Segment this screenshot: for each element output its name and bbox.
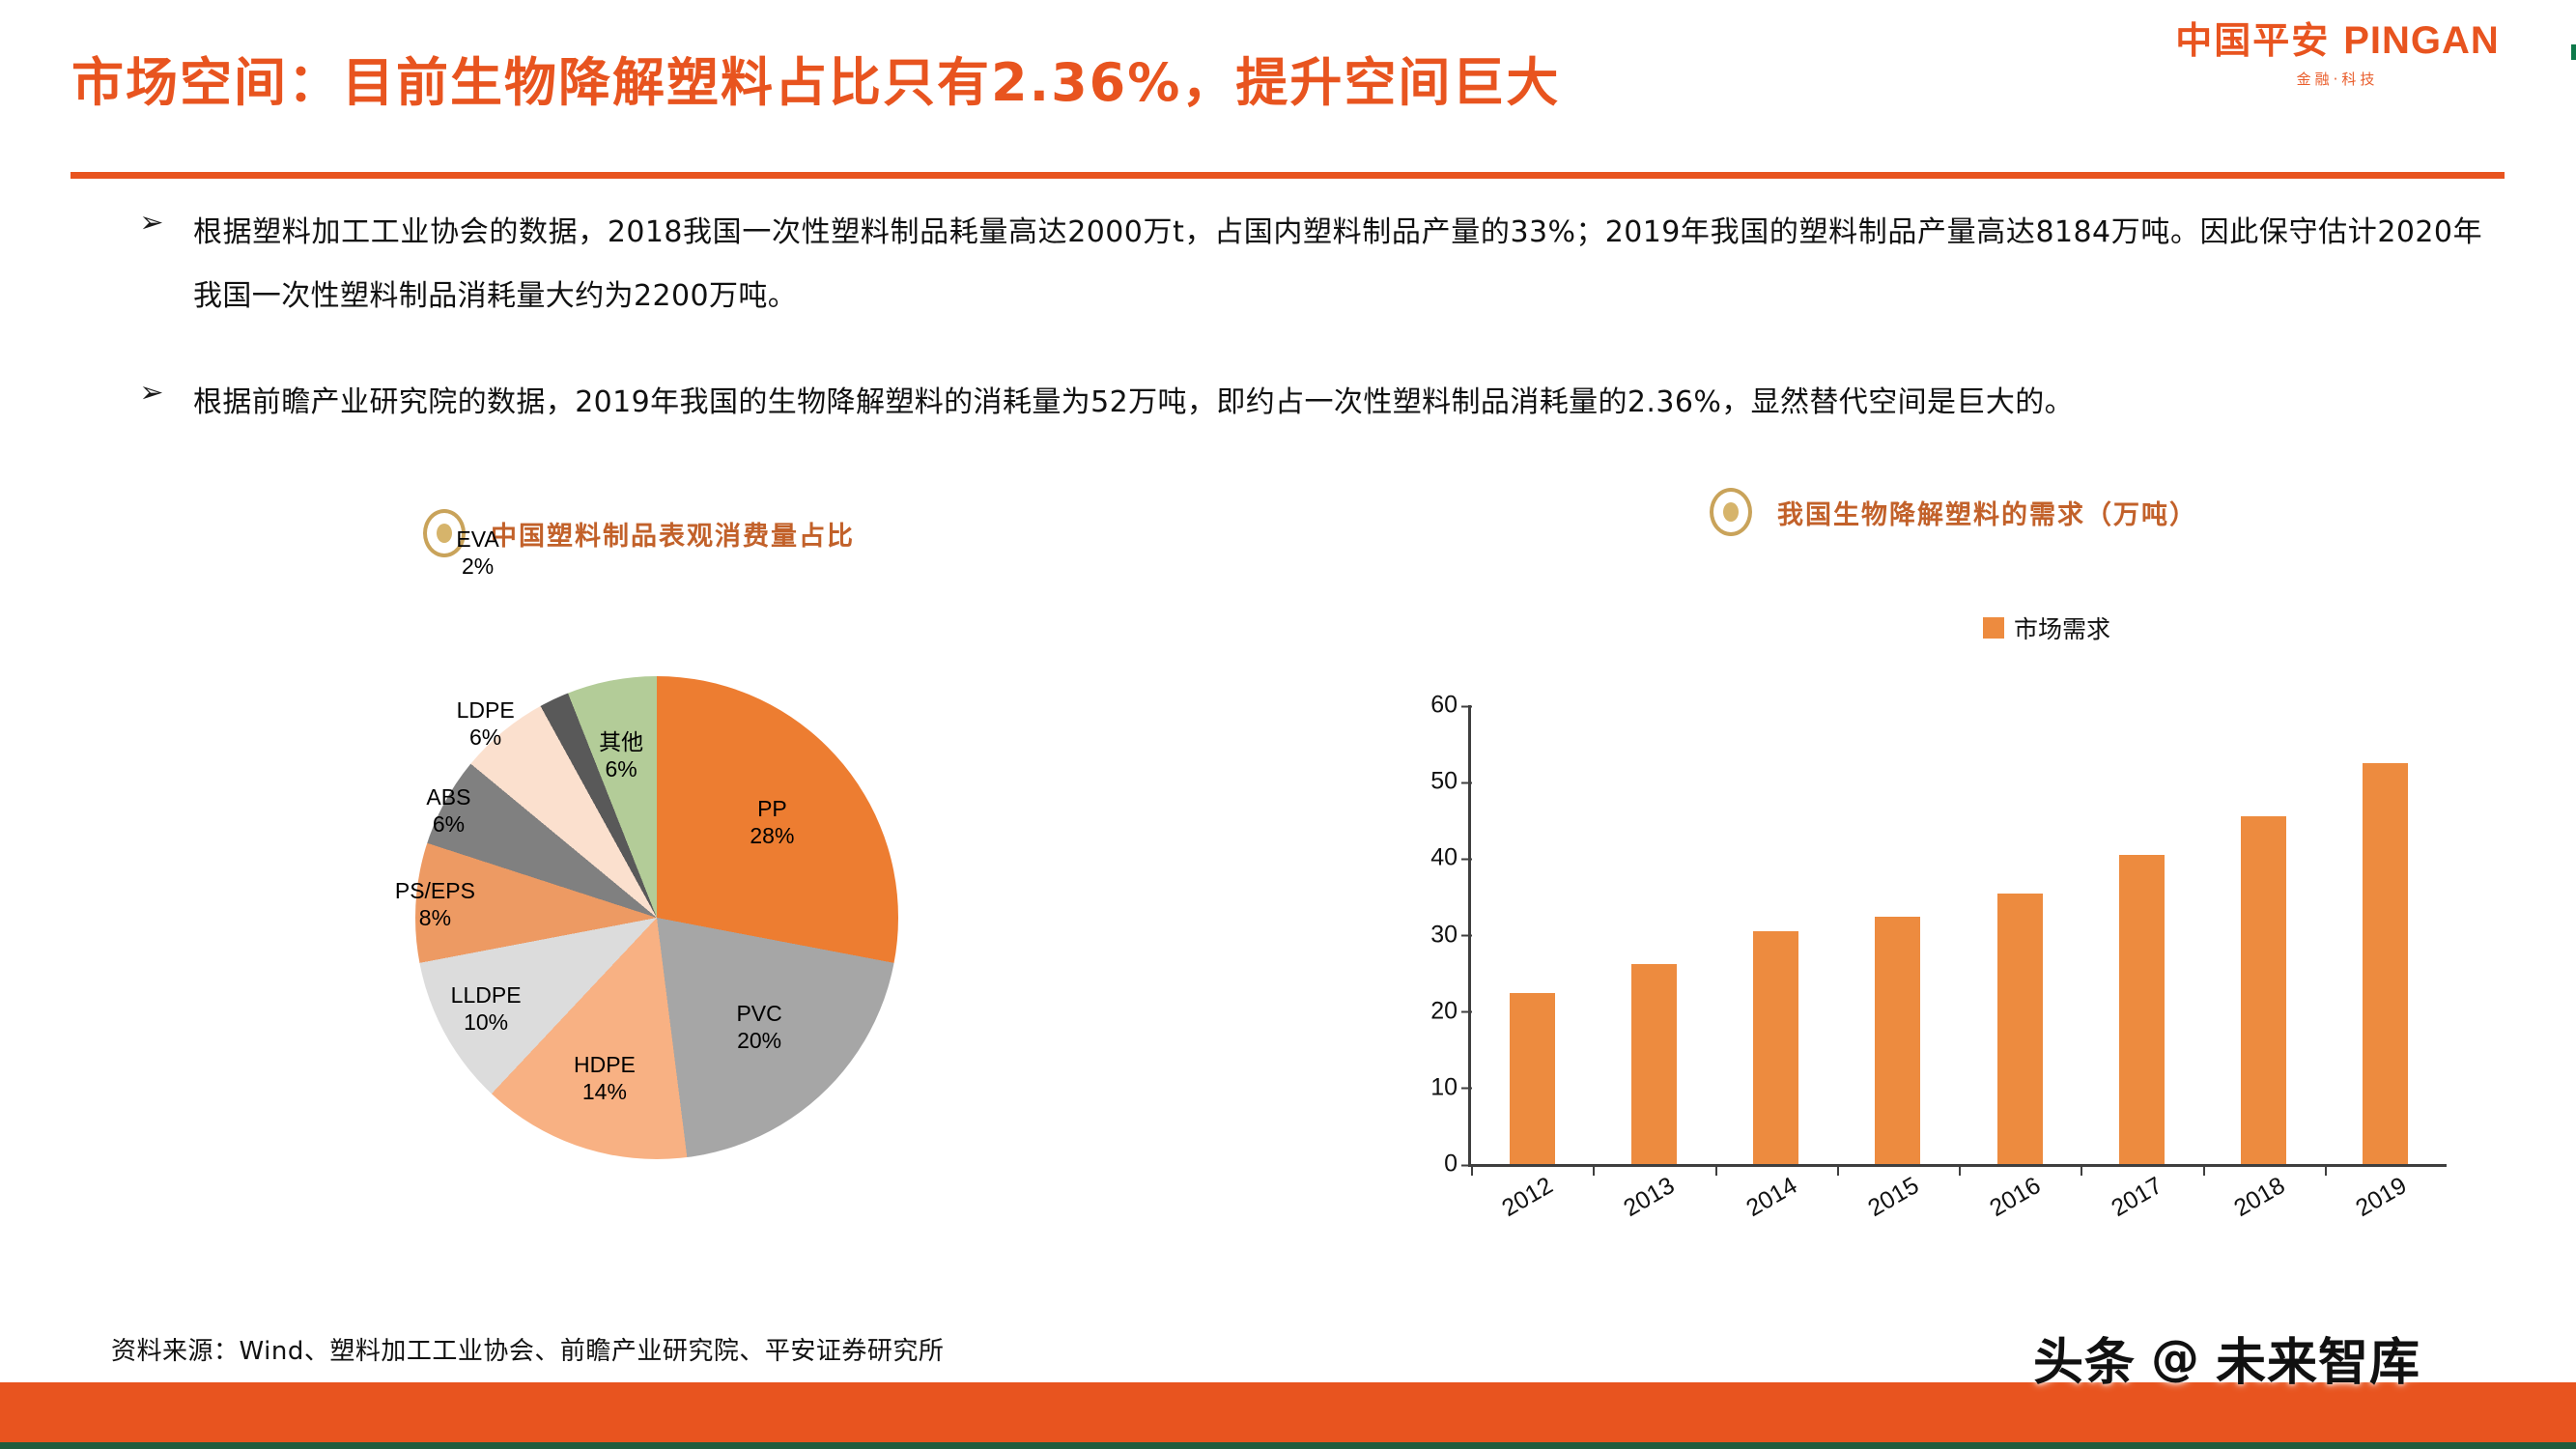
- bar-chart-heading-label: 我国生物降解塑料的需求（万吨）: [1777, 494, 2197, 531]
- pingan-logo: 中国平安 PINGAN 金融·科技: [2144, 21, 2531, 99]
- bar-chart: 市场需求 0102030405060 201220132014201520162…: [1352, 580, 2511, 1294]
- logo-english-label: PINGAN: [2343, 19, 2500, 62]
- pie-slice-label: ABS6%: [395, 783, 501, 838]
- pie-slice-label: 其他6%: [568, 728, 674, 782]
- x-axis-tick: [2081, 1164, 2082, 1176]
- x-axis-tick-label: 2017: [2108, 1172, 2168, 1223]
- y-axis-tick-label: 20: [1430, 997, 1458, 1025]
- ring-bullet-icon: [1710, 488, 1752, 536]
- x-axis-tick: [1593, 1164, 1595, 1176]
- x-axis-tick-label: 2012: [1497, 1172, 1558, 1223]
- bar-column: 2018: [2203, 705, 2325, 1164]
- pie-slice-label: LDPE6%: [433, 696, 539, 751]
- bullet-list: ➢ 根据塑料加工工业协会的数据，2018我国一次性塑料制品耗量高达2000万t，…: [135, 201, 2482, 477]
- x-axis-tick-label: 2015: [1863, 1172, 1924, 1223]
- legend-swatch-icon: [1983, 617, 2004, 639]
- x-axis-tick: [2203, 1164, 2205, 1176]
- x-axis-tick: [2325, 1164, 2327, 1176]
- bullet-text-2: 根据前瞻产业研究院的数据，2019年我国的生物降解塑料的消耗量为52万吨，即约占…: [135, 371, 2482, 435]
- x-axis-tick-label: 2018: [2229, 1172, 2290, 1223]
- pie-slice-label: EVA2%: [425, 526, 531, 580]
- bar-column: 2015: [1837, 705, 1959, 1164]
- y-axis-tick-label: 10: [1430, 1073, 1458, 1101]
- watermark-at-icon: @: [2151, 1330, 2200, 1386]
- bar-rect: [2363, 763, 2408, 1164]
- bar-plot-area: 0102030405060 20122013201420152016201720…: [1468, 705, 2447, 1167]
- bar-column: 2014: [1715, 705, 1837, 1164]
- bar-rect: [2119, 855, 2165, 1164]
- footer-green-line: [0, 1442, 2576, 1449]
- logo-chinese-text: 中国平安: [2175, 22, 2330, 59]
- legend-label: 市场需求: [2014, 611, 2110, 645]
- y-axis-tick-label: 30: [1430, 921, 1458, 949]
- pie-slice-label: PVC20%: [706, 1000, 812, 1054]
- logo-tagline: 金融·科技: [2297, 69, 2379, 89]
- list-item: ➢ 根据前瞻产业研究院的数据，2019年我国的生物降解塑料的消耗量为52万吨，即…: [135, 371, 2482, 435]
- bar-column: 2013: [1593, 705, 1714, 1164]
- x-axis-tick: [1959, 1164, 1961, 1176]
- pie-slice-label: HDPE14%: [552, 1051, 658, 1105]
- x-axis-tick-label: 2019: [2351, 1172, 2412, 1223]
- y-axis-tick-label: 50: [1430, 768, 1458, 796]
- logo-wordmark-row: 中国平安 PINGAN: [2175, 21, 2500, 60]
- x-axis-tick-label: 2013: [1620, 1172, 1681, 1223]
- bar-chart-heading: 我国生物降解塑料的需求（万吨）: [1710, 488, 2197, 536]
- bar-rect: [2241, 816, 2286, 1164]
- y-axis-tick-label: 40: [1430, 844, 1458, 872]
- x-axis-tick: [1471, 1164, 1473, 1176]
- pie-slice-label: LLDPE10%: [433, 981, 539, 1036]
- bar-rect: [1510, 993, 1555, 1164]
- bar-rect: [1997, 894, 2043, 1164]
- bar-column: 2017: [2081, 705, 2202, 1164]
- x-axis-tick-label: 2014: [1741, 1172, 1802, 1223]
- pie-slice-label: PP28%: [719, 795, 825, 849]
- list-item: ➢ 根据塑料加工工业协会的数据，2018我国一次性塑料制品耗量高达2000万t，…: [135, 201, 2482, 328]
- bar-series: 20122013201420152016201720182019: [1471, 705, 2447, 1164]
- watermark-left-label: 头条: [2033, 1321, 2136, 1394]
- bullet-arrow-icon: ➢: [135, 207, 168, 240]
- source-note: 资料来源：Wind、塑料加工工业协会、前瞻产业研究院、平安证券研究所: [111, 1331, 944, 1367]
- pie-chart: PP28%PVC20%HDPE14%LLDPE10%PS/EPS8%ABS6%L…: [319, 594, 1188, 1251]
- y-axis-tick-label: 60: [1430, 692, 1458, 720]
- pie-chart-heading-label: 中国塑料制品表观消费量占比: [491, 515, 855, 553]
- x-axis-tick-label: 2016: [1985, 1172, 2046, 1223]
- chart-legend: 市场需求: [1983, 611, 2110, 645]
- slide-root: 中国平安 PINGAN 金融·科技 市场空间：目前生物降解塑料占比只有2.36%…: [0, 0, 2576, 1449]
- x-axis-tick: [1837, 1164, 1839, 1176]
- y-axis-tick-label: 0: [1444, 1151, 1458, 1179]
- logo-english-text: PINGAN: [2343, 21, 2500, 60]
- bar-column: 2019: [2325, 705, 2447, 1164]
- x-axis-tick: [1715, 1164, 1717, 1176]
- bar-column: 2012: [1471, 705, 1593, 1164]
- bar-rect: [1875, 917, 1920, 1165]
- title-underline-rule: [71, 172, 2505, 179]
- logo-green-wedge-icon: [2571, 44, 2576, 60]
- bullet-arrow-icon: ➢: [135, 377, 168, 410]
- bar-rect: [1753, 931, 1798, 1164]
- watermark: 头条 @ 未来智库: [2033, 1321, 2420, 1394]
- bar-column: 2016: [1959, 705, 2081, 1164]
- bullet-text-1: 根据塑料加工工业协会的数据，2018我国一次性塑料制品耗量高达2000万t，占国…: [135, 201, 2482, 328]
- pie-slice-label: PS/EPS8%: [382, 877, 488, 931]
- page-title: 市场空间：目前生物降解塑料占比只有2.36%，提升空间巨大: [71, 46, 2100, 120]
- watermark-right-label: 未来智库: [2216, 1321, 2420, 1394]
- bar-rect: [1631, 964, 1677, 1164]
